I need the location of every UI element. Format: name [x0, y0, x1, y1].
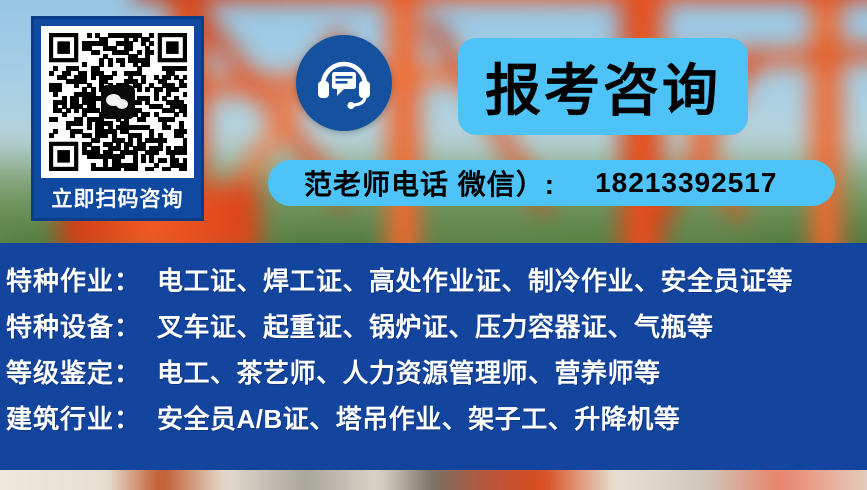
- headset-support-icon: [296, 35, 392, 131]
- contact-phone-pill[interactable]: 范老师电话 微信）: 18213392517: [268, 160, 835, 206]
- qr-code-card[interactable]: 立即扫码咨询: [31, 16, 204, 221]
- category-label: 特种作业：: [6, 261, 141, 298]
- category-row-construction-industry: 建筑行业： 安全员A/B证、塔吊作业、架子工、升降机等: [6, 399, 867, 445]
- category-items: 安全员A/B证、塔吊作业、架子工、升降机等: [157, 399, 680, 436]
- contact-phone-number[interactable]: 18213392517: [595, 167, 777, 199]
- promo-banner: 立即扫码咨询 报考咨询 范老师电话 微信）: 18213392517 特种作业：…: [0, 0, 867, 490]
- bottom-photo-layer: [0, 470, 867, 490]
- category-label: 等级鉴定：: [6, 353, 141, 390]
- category-row-special-equipment: 特种设备： 叉车证、起重证、锅炉证、压力容器证、气瓶等: [6, 307, 867, 353]
- category-row-special-operations: 特种作业： 电工证、焊工证、高处作业证、制冷作业、安全员证等: [6, 261, 867, 307]
- contact-label: 范老师电话 微信）:: [304, 163, 555, 203]
- category-items: 电工证、焊工证、高处作业证、制冷作业、安全员证等: [157, 261, 793, 298]
- qr-code-matrix: [49, 33, 187, 171]
- category-label: 建筑行业：: [6, 399, 141, 436]
- bottom-photo-strip: [0, 470, 867, 490]
- category-items: 叉车证、起重证、锅炉证、压力容器证、气瓶等: [157, 307, 714, 344]
- wechat-icon: [101, 85, 135, 119]
- category-label: 特种设备：: [6, 307, 141, 344]
- certificate-categories-panel: 特种作业： 电工证、焊工证、高处作业证、制冷作业、安全员证等 特种设备： 叉车证…: [0, 243, 867, 470]
- headline-pill: 报考咨询: [458, 38, 748, 135]
- category-items: 电工、茶艺师、人力资源管理师、营养师等: [157, 353, 661, 390]
- category-row-grade-appraisal: 等级鉴定： 电工、茶艺师、人力资源管理师、营养师等: [6, 353, 867, 399]
- qr-card-caption: 立即扫码咨询: [52, 178, 184, 218]
- qr-code-image[interactable]: [41, 26, 194, 178]
